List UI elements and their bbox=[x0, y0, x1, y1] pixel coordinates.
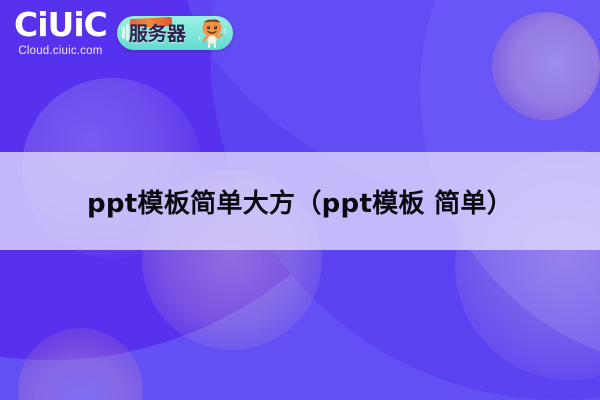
page-title: ppt模板简单大方（ppt模板 简单） bbox=[0, 183, 600, 220]
badge-label: 服务器 bbox=[129, 25, 186, 44]
orange-mascot-icon bbox=[195, 17, 229, 49]
site-logo[interactable]: CiUiC Cloud.ciuic.com bbox=[14, 8, 107, 58]
badge-accent-tick-1 bbox=[122, 27, 125, 39]
promo-banner: CiUiC Cloud.ciuic.com 服务器 bbox=[0, 0, 600, 400]
server-badge[interactable]: 服务器 bbox=[117, 16, 233, 50]
banner-header: CiUiC Cloud.ciuic.com 服务器 bbox=[14, 8, 233, 58]
background-orb-upper-right bbox=[492, 12, 600, 120]
logo-wordmark: CiUiC bbox=[14, 8, 107, 41]
logo-domain: Cloud.ciuic.com bbox=[18, 46, 102, 58]
title-band: ppt模板简单大方（ppt模板 简单） bbox=[0, 152, 600, 250]
